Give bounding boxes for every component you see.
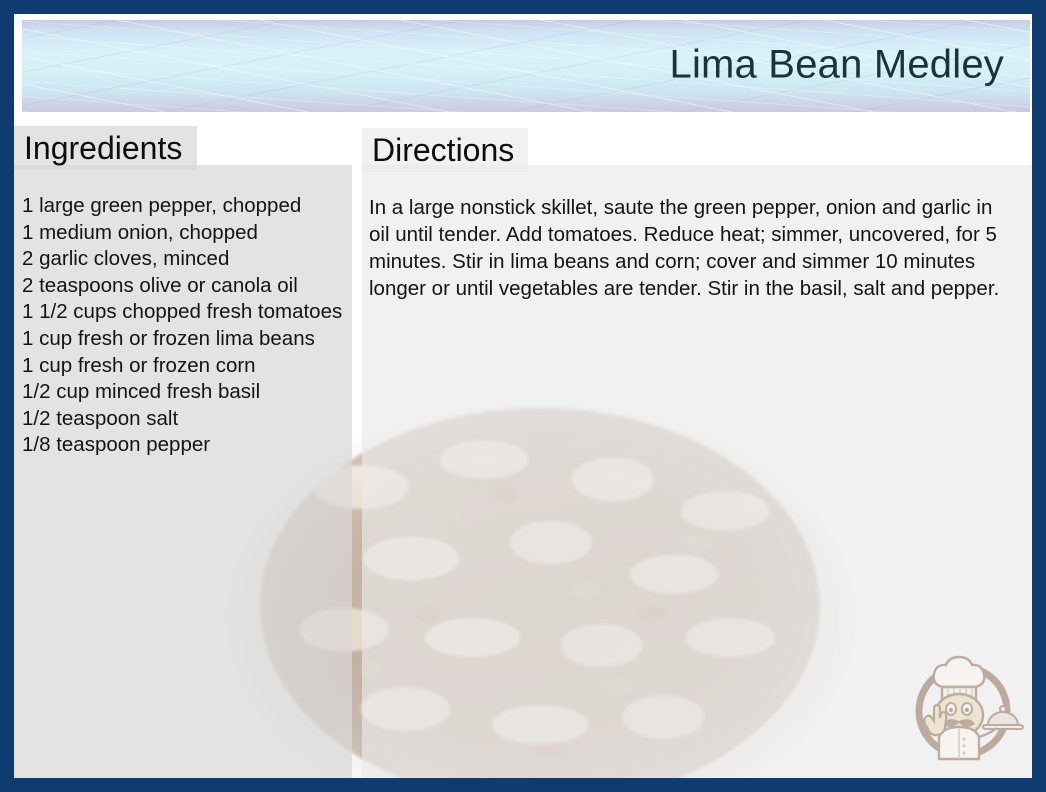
border-left (0, 0, 14, 792)
directions-tab: Directions (362, 128, 528, 172)
ingredients-tab: Ingredients (14, 126, 197, 170)
chef-mascot-logo (899, 641, 1027, 769)
border-bottom (0, 778, 1046, 792)
border-right (1032, 0, 1046, 792)
list-item: 2 garlic cloves, minced (22, 246, 344, 273)
directions-tab-label: Directions (372, 132, 514, 169)
cloche-icon (983, 706, 1023, 729)
list-item: 1/8 teaspoon pepper (22, 432, 344, 459)
recipe-title: Lima Bean Medley (670, 43, 1005, 88)
list-item: 1 cup fresh or frozen lima beans (22, 326, 344, 353)
list-item: 2 teaspoons olive or canola oil (22, 273, 344, 300)
directions-text: In a large nonstick skillet, saute the g… (369, 194, 1009, 302)
header-banner: Lima Bean Medley (22, 20, 1030, 112)
list-item: 1 cup fresh or frozen corn (22, 353, 344, 380)
ingredients-list: 1 large green pepper, chopped 1 medium o… (22, 193, 344, 459)
ingredients-tab-label: Ingredients (24, 130, 182, 167)
list-item: 1/2 teaspoon salt (22, 406, 344, 433)
list-item: 1 large green pepper, chopped (22, 193, 344, 220)
ingredients-items: 1 large green pepper, chopped 1 medium o… (22, 193, 344, 459)
list-item: 1 medium onion, chopped (22, 220, 344, 247)
recipe-card: Lima Bean Medley Ingredients Directions … (0, 0, 1046, 792)
list-item: 1 1/2 cups chopped fresh tomatoes (22, 299, 344, 326)
border-top (0, 0, 1046, 14)
list-item: 1/2 cup minced fresh basil (22, 379, 344, 406)
